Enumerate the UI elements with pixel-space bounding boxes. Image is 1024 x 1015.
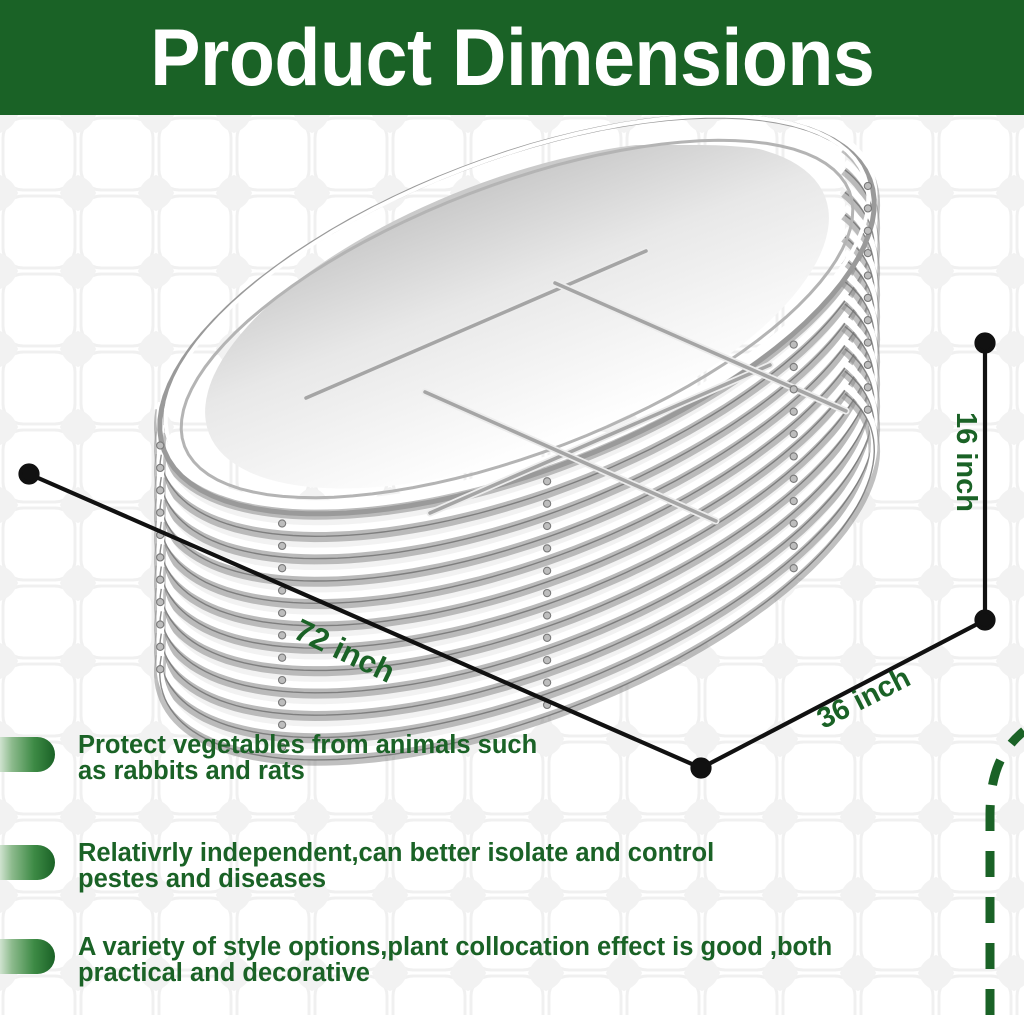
seam-screw-icon: [157, 643, 164, 650]
feature-line: Protect vegetables from animals such: [78, 732, 537, 758]
feature-text: Protect vegetables from animals such as …: [78, 732, 537, 784]
seam-screw-icon: [157, 464, 164, 471]
seam-screw-icon: [279, 520, 286, 527]
seam-screw-icon: [279, 654, 286, 661]
feature-line: A variety of style options,plant colloca…: [78, 934, 832, 960]
bullet-pill-icon: [0, 845, 55, 880]
seam-screw-icon: [544, 612, 551, 619]
seam-screw-icon: [864, 272, 871, 279]
seam-screw-icon: [544, 500, 551, 507]
seam-screw-icon: [864, 182, 871, 189]
seam-screw-icon: [864, 205, 871, 212]
seam-screw-icon: [279, 609, 286, 616]
feature-line: Relativrly independent,can better isolat…: [78, 840, 714, 866]
seam-screw-icon: [864, 250, 871, 257]
seam-screw-icon: [790, 520, 797, 527]
seam-screw-icon: [157, 554, 164, 561]
seam-screw-icon: [544, 545, 551, 552]
seam-screw-icon: [544, 478, 551, 485]
feature-list: Protect vegetables from animals such as …: [0, 722, 1024, 1015]
seam-screw-icon: [157, 487, 164, 494]
seam-screw-icon: [790, 431, 797, 438]
seam-screw-icon: [279, 632, 286, 639]
feature-text: A variety of style options,plant colloca…: [78, 934, 832, 986]
seam-screw-icon: [544, 590, 551, 597]
seam-screw-icon: [864, 227, 871, 234]
feature-line: pestes and diseases: [78, 866, 714, 892]
seam-screw-icon: [790, 386, 797, 393]
page-title: Product Dimensions: [150, 16, 874, 100]
seam-screw-icon: [544, 634, 551, 641]
feature-line: practical and decorative: [78, 960, 832, 986]
seam-screw-icon: [157, 599, 164, 606]
seam-screw-icon: [790, 498, 797, 505]
seam-screw-icon: [544, 522, 551, 529]
seam-screw-icon: [279, 699, 286, 706]
seam-screw-icon: [544, 567, 551, 574]
seam-screw-icon: [279, 542, 286, 549]
seam-screw-icon: [279, 677, 286, 684]
bullet-pill-icon: [0, 939, 55, 974]
seam-screw-icon: [157, 442, 164, 449]
feature-text: Relativrly independent,can better isolat…: [78, 840, 714, 892]
seam-screw-icon: [157, 509, 164, 516]
raised-garden-bed-graphic: [157, 115, 875, 760]
feature-line: as rabbits and rats: [78, 758, 537, 784]
seam-screw-icon: [157, 621, 164, 628]
seam-screw-icon: [864, 294, 871, 301]
header-banner: Product Dimensions: [0, 0, 1024, 115]
seam-screw-icon: [790, 408, 797, 415]
dimension-endpoint-left: [21, 466, 38, 483]
feature-item: Protect vegetables from animals such as …: [0, 732, 1000, 784]
bullet-pill-icon: [0, 737, 55, 772]
seam-screw-icon: [864, 339, 871, 346]
seam-screw-icon: [157, 576, 164, 583]
dimension-vertex-right: [977, 612, 994, 629]
seam-screw-icon: [279, 565, 286, 572]
seam-screw-icon: [864, 384, 871, 391]
seam-screw-icon: [790, 475, 797, 482]
feature-item: A variety of style options,plant colloca…: [0, 934, 1000, 986]
dimension-label-height: 16 inch: [949, 412, 982, 512]
seam-screw-icon: [864, 317, 871, 324]
seam-screw-icon: [864, 361, 871, 368]
seam-screw-icon: [790, 542, 797, 549]
seam-screw-icon: [544, 679, 551, 686]
seam-screw-icon: [790, 341, 797, 348]
feature-item: Relativrly independent,can better isolat…: [0, 840, 1000, 892]
seam-screw-icon: [790, 363, 797, 370]
seam-screw-icon: [157, 666, 164, 673]
seam-screw-icon: [544, 657, 551, 664]
seam-screw-icon: [864, 406, 871, 413]
seam-screw-icon: [790, 453, 797, 460]
seam-screw-icon: [790, 565, 797, 572]
dimension-endpoint-top: [977, 335, 994, 352]
